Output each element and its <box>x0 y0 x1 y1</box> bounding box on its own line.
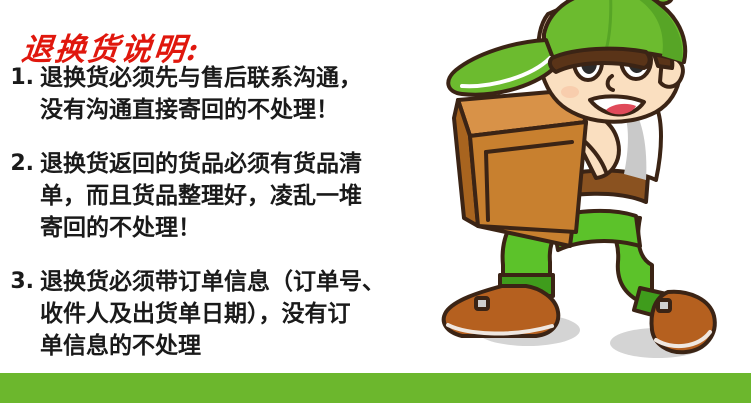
courier-illustration <box>440 0 751 375</box>
rule-line: 退换货必须先与售后联系沟通， <box>40 62 470 94</box>
rule-body: 退换货必须先与售后联系沟通， 没有沟通直接寄回的不处理！ <box>40 62 470 126</box>
policy-text-column: 退换货说明: 1. 退换货必须先与售后联系沟通， 没有沟通直接寄回的不处理！ 2… <box>0 0 470 375</box>
cheek-left <box>561 86 579 98</box>
rule-line: 没有沟通直接寄回的不处理！ <box>40 94 470 126</box>
returns-policy-banner: 退换货说明: 1. 退换货必须先与售后联系沟通， 没有沟通直接寄回的不处理！ 2… <box>0 0 751 403</box>
front-shoe-tab <box>658 300 670 311</box>
rule-line: 退换货必须带订单信息（订单号、 <box>40 266 470 298</box>
rule-number: 3. <box>0 266 40 298</box>
footer-accent-bar <box>0 373 751 403</box>
rule-line: 退换货返回的货品必须有货品清 <box>40 148 470 180</box>
rule-line: 单信息的不处理 <box>40 330 470 362</box>
list-item: 2. 退换货返回的货品必须有货品清 单，而且货品整理好，凌乱一堆 寄回的不处理！ <box>0 148 470 244</box>
policy-rule-list: 1. 退换货必须先与售后联系沟通， 没有沟通直接寄回的不处理！ 2. 退换货返回… <box>0 62 470 384</box>
rule-number: 1. <box>0 62 40 94</box>
box-crease <box>486 152 488 220</box>
rule-body: 退换货返回的货品必须有货品清 单，而且货品整理好，凌乱一堆 寄回的不处理！ <box>40 148 470 244</box>
cap-button <box>656 0 672 4</box>
rule-body: 退换货必须带订单信息（订单号、 收件人及出货单日期），没有订 单信息的不处理 <box>40 266 470 362</box>
list-item: 1. 退换货必须先与售后联系沟通， 没有沟通直接寄回的不处理！ <box>0 62 470 126</box>
back-shoe-tab <box>476 298 488 309</box>
rule-line: 收件人及出货单日期），没有订 <box>40 298 470 330</box>
rule-line: 寄回的不处理！ <box>40 212 470 244</box>
rule-number: 2. <box>0 148 40 180</box>
rule-line: 单，而且货品整理好，凌乱一堆 <box>40 180 470 212</box>
list-item: 3. 退换货必须带订单信息（订单号、 收件人及出货单日期），没有订 单信息的不处… <box>0 266 470 362</box>
